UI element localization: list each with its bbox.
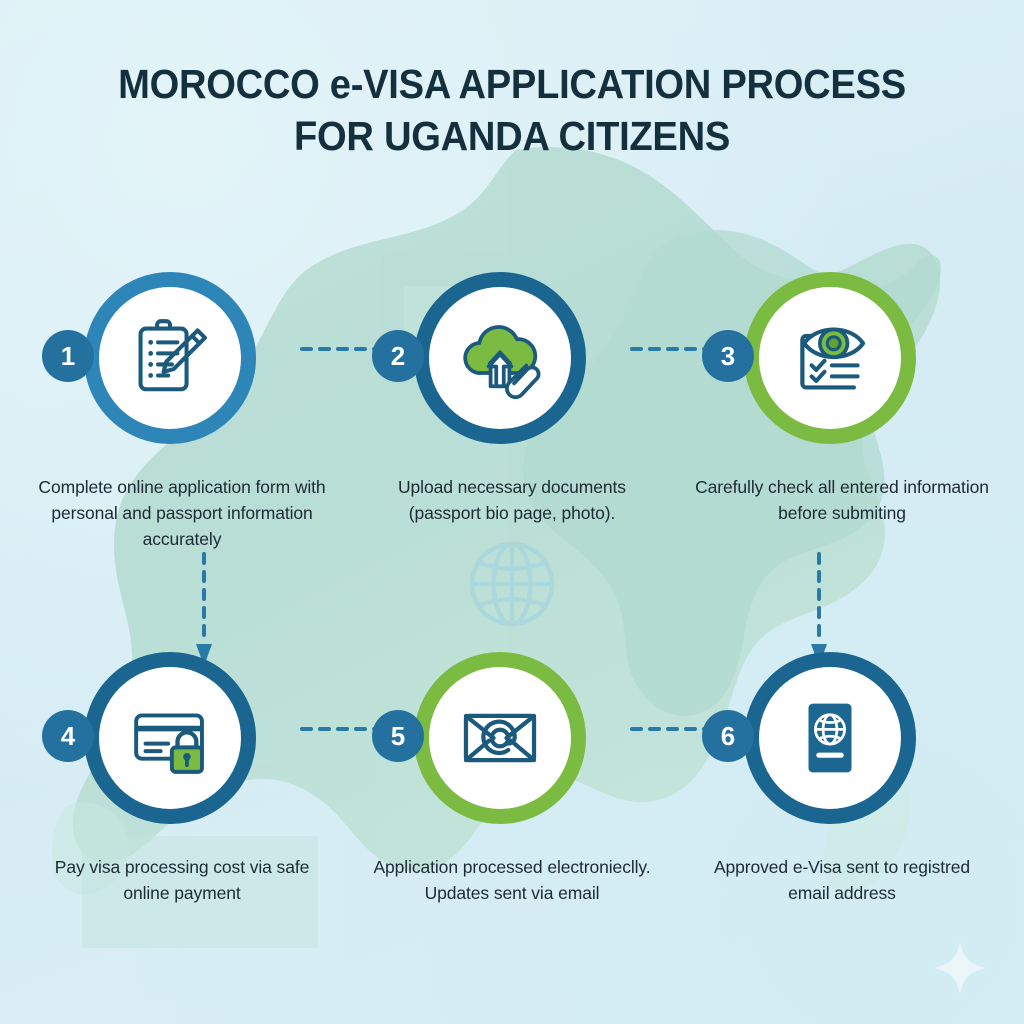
step-5-icon-circle[interactable] xyxy=(414,652,586,824)
title-line-2: FOR UGANDA CITIZENS xyxy=(101,110,923,162)
step-2-number-badge: 2 xyxy=(372,330,424,382)
step-4-number-badge: 4 xyxy=(42,710,94,762)
step-5-number-badge: 5 xyxy=(372,710,424,762)
step-6-icon-circle[interactable] xyxy=(744,652,916,824)
globe-watermark xyxy=(458,530,566,638)
step-1[interactable]: 1 Complete online application form with … xyxy=(32,272,332,552)
eye-checklist-icon xyxy=(784,312,876,404)
step-2[interactable]: 2 Upload necessary documents (passport b… xyxy=(362,272,662,526)
infographic-canvas: MOROCCO e-VISA APPLICATION PROCESS FOR U… xyxy=(0,0,1024,1024)
page-title: MOROCCO e-VISA APPLICATION PROCESS FOR U… xyxy=(0,58,1024,162)
step-1-circle-row: 1 xyxy=(32,272,332,462)
step-1-caption: Complete online application form with pe… xyxy=(32,474,332,552)
step-4[interactable]: 4 Pay visa processing cost via safe onli… xyxy=(32,652,332,906)
credit-card-lock-icon xyxy=(123,691,217,785)
sparkle-star-icon xyxy=(930,938,990,998)
step-6-number-badge: 6 xyxy=(702,710,754,762)
cloud-upload-paperclip-icon xyxy=(453,311,547,405)
step-2-caption: Upload necessary documents (passport bio… xyxy=(362,474,662,526)
passport-globe-icon xyxy=(787,695,873,781)
step-6-circle-row: 6 xyxy=(692,652,992,842)
title-line-1: MOROCCO e-VISA APPLICATION PROCESS xyxy=(101,58,923,110)
clipboard-pencil-icon xyxy=(124,312,216,404)
step-6-caption: Approved e-Visa sent to registred email … xyxy=(692,854,992,906)
step-3-caption: Carefully check all entered information … xyxy=(692,474,992,526)
step-4-icon-circle[interactable] xyxy=(84,652,256,824)
step-2-circle-row: 2 xyxy=(362,272,662,462)
step-3[interactable]: 3 Carefully check all entered informatio… xyxy=(692,272,992,526)
step-3-icon-circle[interactable] xyxy=(744,272,916,444)
step-5-caption: Application processed electronieclly. Up… xyxy=(362,854,662,906)
step-3-circle-row: 3 xyxy=(692,272,992,462)
step-2-icon-circle[interactable] xyxy=(414,272,586,444)
step-1-icon-circle[interactable] xyxy=(84,272,256,444)
step-1-number-badge: 1 xyxy=(42,330,94,382)
step-4-circle-row: 4 xyxy=(32,652,332,842)
step-4-caption: Pay visa processing cost via safe online… xyxy=(32,854,332,906)
step-5[interactable]: 5 Application processed electronieclly. … xyxy=(362,652,662,906)
step-6[interactable]: 6 Approved e-Visa sent to registred emai… xyxy=(692,652,992,906)
step-3-number-badge: 3 xyxy=(702,330,754,382)
envelope-at-icon xyxy=(454,692,546,784)
step-5-circle-row: 5 xyxy=(362,652,662,842)
